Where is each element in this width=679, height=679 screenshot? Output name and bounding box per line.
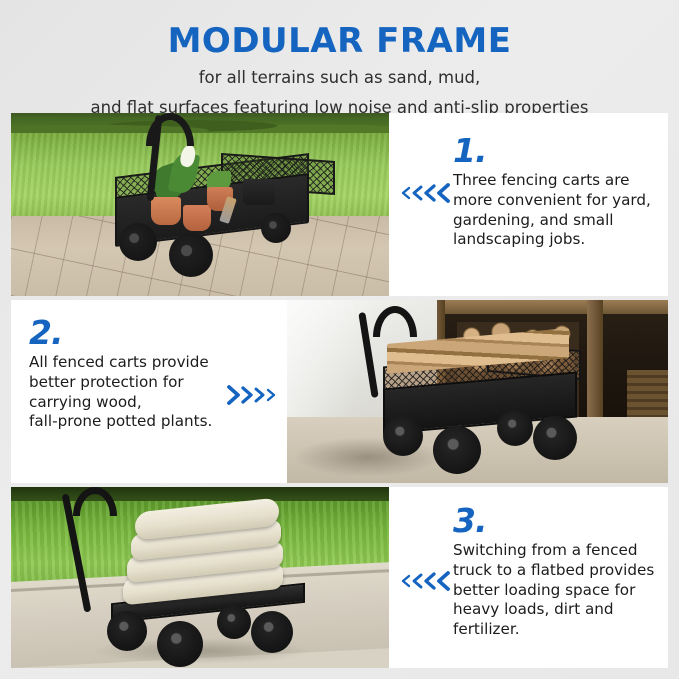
feature-description-1: Three fencing carts are more convenient …	[453, 171, 651, 250]
feature-text-2: 2. All fenced carts provide better prote…	[11, 300, 287, 483]
feature-row-3: 3. Switching from a fenced truck to a fl…	[11, 487, 668, 668]
product-photo-garden-cart	[11, 113, 389, 296]
feature-row-2: 2. All fenced carts provide better prote…	[11, 300, 668, 483]
product-photo-flatbed-cart	[11, 487, 389, 668]
page-title: MODULAR FRAME	[0, 0, 679, 58]
chevron-left-group-3	[397, 569, 451, 593]
feature-body-1: 1. Three fencing carts are more convenie…	[453, 134, 651, 250]
infographic-page: MODULAR FRAME for all terrains such as s…	[0, 0, 679, 679]
feature-body-2: 2. All fenced carts provide better prote…	[29, 316, 212, 432]
chevron-right-group-2	[223, 382, 281, 408]
feature-text-1: 1. Three fencing carts are more convenie…	[389, 113, 668, 296]
product-photo-firewood-cart	[287, 300, 668, 483]
feature-body-3: 3. Switching from a fenced truck to a fl…	[453, 504, 654, 640]
feature-description-2: All fenced carts provide better protecti…	[29, 353, 212, 432]
feature-description-3: Switching from a fenced truck to a flatb…	[453, 541, 654, 640]
feature-text-3: 3. Switching from a fenced truck to a fl…	[389, 487, 668, 668]
chevron-left-group-1	[397, 181, 451, 205]
header: MODULAR FRAME for all terrains such as s…	[0, 0, 679, 110]
feature-number-1: 1.	[453, 134, 651, 167]
feature-number-3: 3.	[453, 504, 654, 537]
page-subtitle-line-1: for all terrains such as sand, mud,	[0, 58, 679, 88]
feature-row-1: 1. Three fencing carts are more convenie…	[11, 113, 668, 296]
feature-number-2: 2.	[29, 316, 212, 349]
